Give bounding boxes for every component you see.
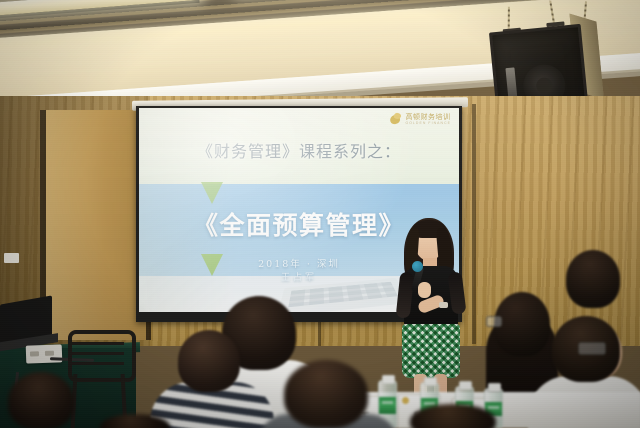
chair-bar [72, 342, 124, 345]
presenter-speaking [382, 216, 482, 396]
wristwatch-icon [439, 302, 448, 308]
presenter-hand [418, 282, 431, 298]
bottle-cap [424, 377, 437, 386]
attendee-far-right [566, 250, 620, 308]
chair-bar [72, 362, 124, 365]
light-switch[interactable] [4, 253, 19, 263]
bottle-cap [459, 381, 472, 390]
brand-text: 高顿财务培训 GOLDEN FINANCE [405, 114, 451, 125]
presenter-patterned-skirt [402, 324, 460, 378]
slide-triangle-icon [201, 182, 223, 204]
eyeglasses-icon [486, 316, 502, 327]
chair-backrest [68, 330, 136, 382]
attendee-grey-shirt [284, 360, 368, 428]
leaf-logo-icon [389, 113, 402, 126]
bottle-cap [382, 375, 395, 384]
microphone-head-icon [412, 261, 423, 272]
name-card-logo-icon [402, 397, 409, 404]
conference-room-photo: 高顿财务培训 GOLDEN FINANCE 《财务管理》课程系列之： 《全面预算… [0, 0, 640, 428]
bottle-label [379, 397, 396, 414]
attendee-front-left [8, 372, 74, 428]
power-adapter [26, 344, 63, 363]
brand-name-cn: 高顿财务培训 [405, 114, 451, 121]
eyeglasses-icon [578, 342, 606, 355]
bottle-cap [488, 383, 501, 392]
attendee-striped-shirt [178, 330, 240, 392]
slide-brand-logo: 高顿财务培训 GOLDEN FINANCE [389, 113, 451, 126]
brand-name-en: GOLDEN FINANCE [405, 122, 451, 125]
attendee-glasses-woman [494, 292, 550, 356]
sliding-wood-door[interactable] [46, 110, 146, 340]
chair-bar [72, 352, 124, 355]
wall-panel-seam [318, 318, 321, 346]
slide-heading: 《财务管理》课程系列之： [139, 138, 459, 162]
